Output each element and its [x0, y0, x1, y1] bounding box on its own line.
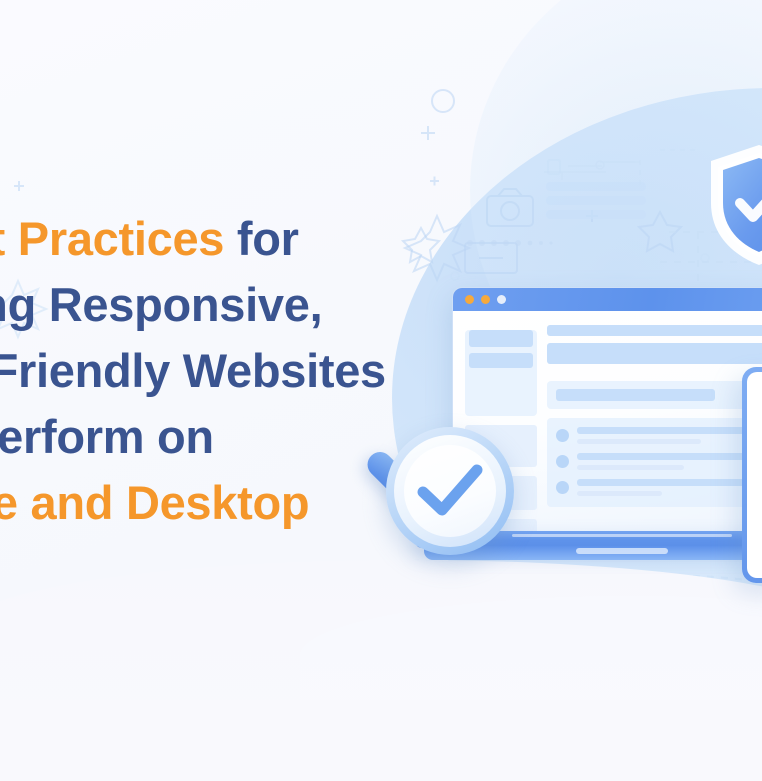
background-blue-blob-secondary	[470, 0, 762, 440]
headline: est Practices for ding Responsive, O-Fri…	[0, 206, 458, 536]
list-item	[556, 453, 762, 470]
sidebar-block	[469, 353, 533, 368]
laptop-base-highlight	[512, 534, 732, 537]
tablet-device	[742, 367, 762, 583]
sidebar-block	[465, 519, 537, 537]
list-item-lines	[577, 427, 762, 444]
camera-outline-icon	[487, 189, 533, 226]
circle-outline-icon	[432, 90, 454, 112]
sidebar-block	[465, 476, 537, 510]
laptop-base-notch	[576, 548, 668, 554]
headline-line-1-navy: for	[237, 212, 299, 265]
content-card	[547, 381, 762, 409]
ghost-wireframe-outline	[544, 161, 640, 180]
list-card	[547, 418, 762, 507]
seo-banner: est Practices for ding Responsive, O-Fri…	[0, 0, 762, 781]
laptop-base-front	[424, 546, 762, 560]
content-bar	[547, 325, 762, 336]
star-outline-icon	[639, 212, 681, 251]
headline-line-3: O-Friendly Websites	[0, 338, 458, 404]
headline-line-1-orange: est Practices	[0, 212, 237, 265]
dotted-row-icon	[467, 240, 553, 246]
headline-line-5: bile and Desktop	[0, 470, 458, 536]
list-item	[556, 427, 762, 444]
headline-line-1: est Practices for	[0, 206, 458, 272]
list-line-primary	[577, 453, 762, 460]
laptop-base	[415, 531, 762, 548]
traffic-light-white	[497, 295, 506, 304]
content-bar	[556, 389, 715, 401]
list-line-primary	[577, 479, 762, 486]
browser-content-area	[453, 311, 762, 536]
tablet-screen	[747, 372, 762, 578]
sidebar-block	[465, 425, 537, 467]
avatar	[556, 429, 569, 442]
rectangle-outline-icon	[548, 160, 560, 174]
list-line-primary	[577, 427, 762, 434]
circle-dot-icon	[701, 254, 709, 262]
list-line-secondary	[577, 465, 684, 470]
list-line-secondary	[577, 439, 701, 444]
shield-check-icon	[707, 141, 762, 269]
sidebar-card	[465, 330, 537, 416]
triangle-marker-icon	[586, 520, 594, 530]
avatar	[556, 455, 569, 468]
browser-title-bar	[453, 288, 762, 311]
traffic-light-orange-2	[481, 295, 490, 304]
rectangle-outline-icon	[465, 243, 517, 273]
wireframe-main	[537, 325, 762, 536]
wireframe-sidebar	[453, 325, 537, 536]
list-item	[556, 479, 762, 496]
list-line-secondary	[577, 491, 662, 496]
list-item-lines	[577, 453, 762, 470]
list-item-lines	[577, 479, 762, 496]
headline-line-2: ding Responsive,	[0, 272, 458, 338]
headline-line-4: t Perform on	[0, 404, 458, 470]
avatar	[556, 481, 569, 494]
ghost-wireframe-bars	[546, 182, 646, 219]
bottom-flat-area	[0, 700, 762, 781]
traffic-light-orange-1	[465, 295, 474, 304]
content-bar	[547, 343, 762, 364]
browser-window-mockup	[452, 287, 762, 537]
sidebar-block	[469, 330, 533, 347]
ghost-dashed-box	[640, 150, 700, 190]
